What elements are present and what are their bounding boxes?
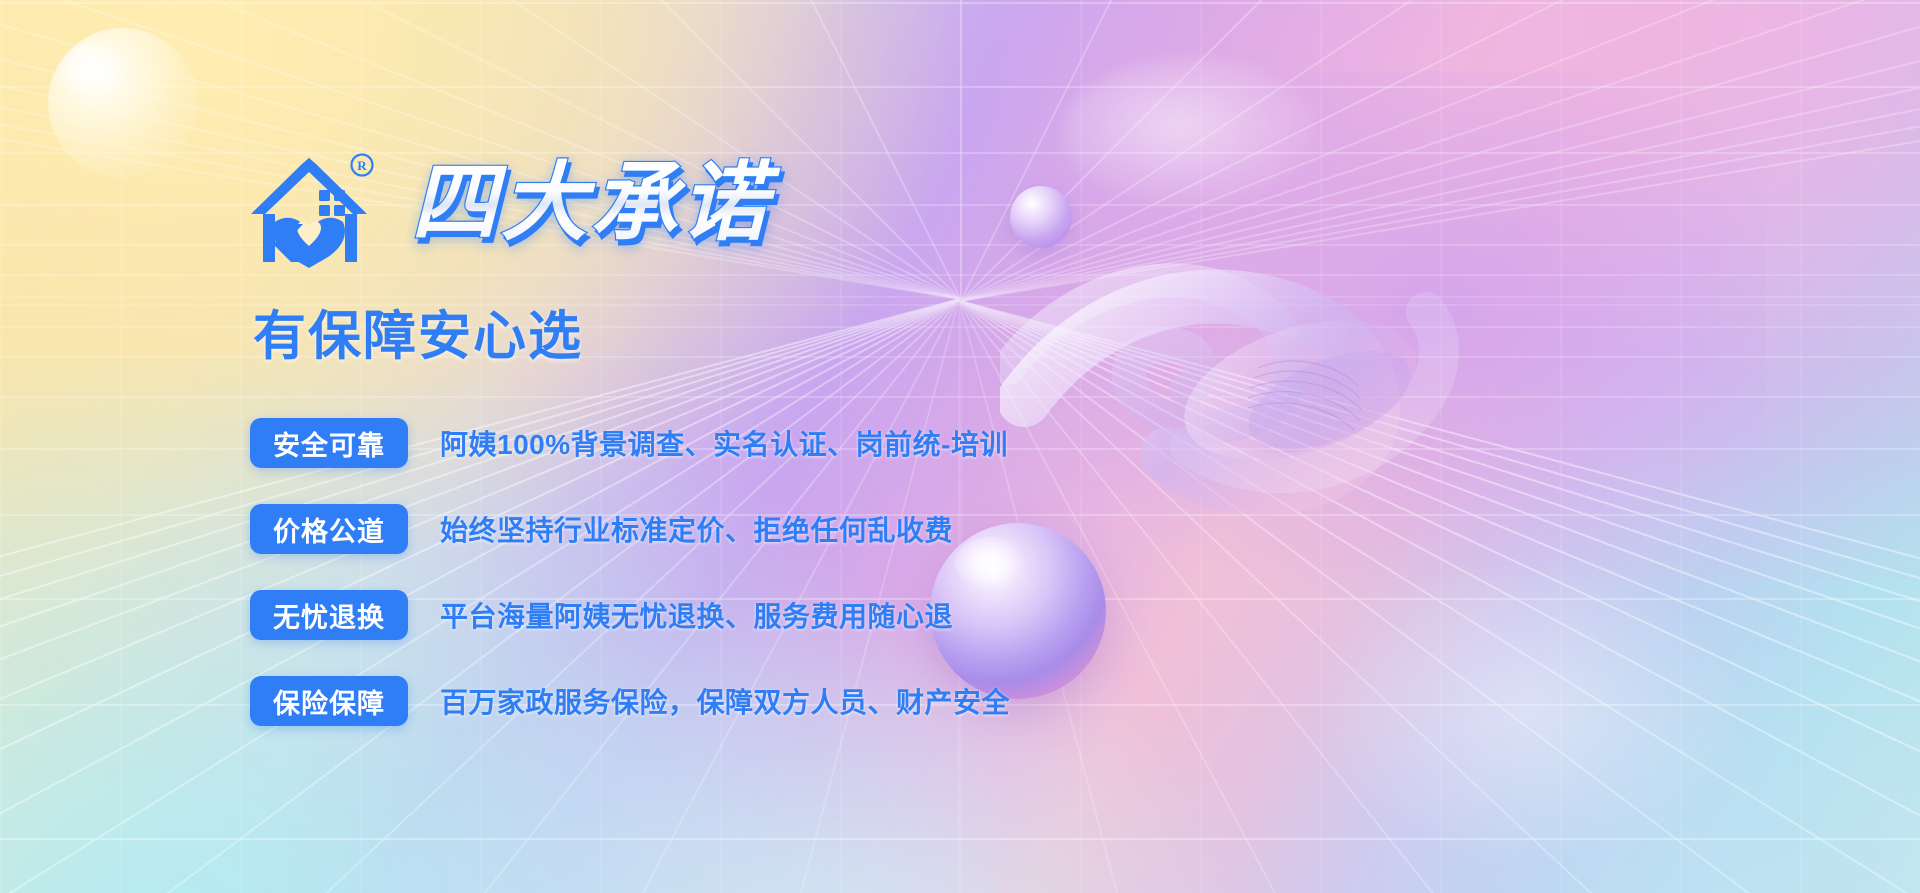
subtitle: 有保障安心选 [253, 310, 583, 363]
feature-row: 无忧退换平台海量阿姨无忧退换、服务费用随心退 [250, 590, 1010, 640]
feature-badge[interactable]: 安全可靠 [250, 418, 408, 468]
svg-text:R: R [357, 158, 367, 173]
svg-text:四大承诺: 四大承诺 [411, 155, 781, 251]
feature-row: 保险保障百万家政服务保险，保障双方人员、财产安全 [250, 676, 1010, 726]
soft-cloud-bottom [1320, 560, 1740, 860]
feature-row: 价格公道始终坚持行业标准定价、拒绝任何乱收费 [250, 504, 1010, 554]
banner-content: R 四大承诺 有保障安心选 安全 [0, 0, 1100, 893]
registered-trademark-icon: R [352, 155, 373, 176]
feature-badge[interactable]: 保险保障 [250, 676, 408, 726]
feature-description: 始终坚持行业标准定价、拒绝任何乱收费 [440, 509, 953, 549]
house-heart-kz-logo-icon: R [245, 150, 375, 268]
promo-banner: R 四大承诺 有保障安心选 安全 [0, 0, 1920, 893]
feature-badge[interactable]: 无忧退换 [250, 590, 408, 640]
feature-row: 安全可靠阿姨100%背景调查、实名认证、岗前统-培训 [250, 418, 1010, 468]
feature-list: 安全可靠阿姨100%背景调查、实名认证、岗前统-培训价格公道始终坚持行业标准定价… [250, 418, 1010, 762]
feature-badge[interactable]: 价格公道 [250, 504, 408, 554]
page-title: 四大承诺 [405, 140, 885, 264]
feature-description: 百万家政服务保险，保障双方人员、财产安全 [440, 681, 1010, 721]
feature-description: 阿姨100%背景调查、实名认证、岗前统-培训 [440, 423, 1008, 463]
feature-description: 平台海量阿姨无忧退换、服务费用随心退 [440, 595, 953, 635]
